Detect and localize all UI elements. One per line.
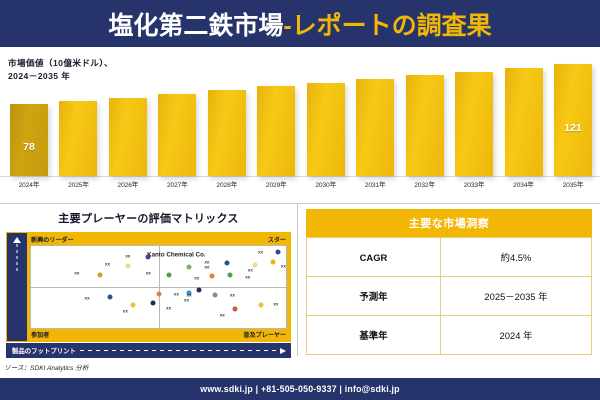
matrix-data-point [225,261,230,266]
matrix-data-point [125,263,130,268]
matrix-data-point-label: xx [194,275,199,280]
bar [505,68,543,176]
insight-key-cell: 予測年 [307,277,441,316]
matrix-data-point [97,272,102,277]
bar [59,101,97,176]
arrow-right-icon [280,348,286,354]
insight-value-cell: 2024 年 [440,316,591,355]
bar-category-label: 2034年 [513,179,534,189]
matrix-data-point [212,293,217,298]
bar-column: 2031年 [356,79,394,176]
bar-category-label: 2026年 [118,179,139,189]
bar-category-label: 2025年 [68,179,89,189]
bar [158,94,196,176]
quadrant-label-participants: 参加者 [31,330,49,339]
matrix-title: 主要プレーヤーの評価マトリックス [0,204,297,226]
bar-value-label: 78 [10,141,48,153]
matrix-data-point-label: xx [125,253,130,258]
matrix-chart: 企業の評価・展望 新興のリーダー スター 参加者 普及プレーヤー Kanto C… [6,232,291,342]
dashed-line-icon [17,244,18,274]
key-insights-header: 主要な市場洞察 [306,209,592,237]
evaluation-matrix-panel: 主要プレーヤーの評価マトリックス 企業の評価・展望 新興のリーダー スター 参加… [0,204,297,376]
bar-column: 2028年 [208,90,246,176]
bar-category-label: 2029年 [266,179,287,189]
bar-column: 1212035年 [554,64,592,176]
table-row: 基準年2024 年 [307,316,592,355]
page-title-primary: 塩化第二鉄市場 [108,12,283,40]
quadrant-label-stars: スター [268,235,286,244]
bar-column: 2032年 [406,75,444,176]
matrix-data-point-label: xx [146,271,151,276]
key-insights-panel: 主要な市場洞察 CAGR約4.5%予測年2025－2035 年基準年2024 年 [306,209,592,354]
matrix-data-point-label: xx [184,298,189,303]
bar [356,79,394,176]
bar-category-label: 2033年 [464,179,485,189]
matrix-data-point-label: xx [220,312,225,317]
matrix-x-axis-label: 製品のフットプリント [12,346,76,355]
bar-category-label: 2035年 [563,179,584,189]
bar-category-label: 2024年 [19,179,40,189]
matrix-data-point [151,301,156,306]
bar-category-label: 2028年 [216,179,237,189]
bar-column: 2027年 [158,94,196,176]
arrow-up-icon [13,237,21,243]
matrix-data-point [276,249,281,254]
bar-category-label: 2030年 [315,179,336,189]
bar-value-label: 121 [554,122,592,134]
matrix-plot-area: Kanto Chemical Co. xxxxxxxxxxxxxxxxxxxxx… [30,245,287,329]
bar [406,75,444,176]
footer-contact-text: www.sdki.jp | +81-505-050-9337 | info@sd… [200,384,399,394]
matrix-y-axis: 企業の評価・展望 [7,233,27,341]
bar-category-label: 2031年 [365,179,386,189]
bar-column: 2025年 [59,101,97,176]
insight-value-cell: 2025－2035 年 [440,277,591,316]
bar-category-label: 2027年 [167,179,188,189]
matrix-data-point [210,273,215,278]
matrix-data-point-label: xx [74,271,79,276]
matrix-data-point [187,265,192,270]
page-header: 塩化第二鉄市場-レポートの調査果 [0,0,600,47]
source-note: ソース：SDKI Analytics 分析 [4,362,88,372]
page-title-dash: - [283,12,291,40]
matrix-horizontal-gridline [31,287,286,288]
matrix-data-point [146,255,151,260]
matrix-data-point-label: xx [123,308,128,313]
matrix-data-point-label: xx [204,260,209,265]
matrix-data-point-label: xx [273,302,278,307]
bar-column: 2029年 [257,86,295,176]
matrix-data-point-label: xx [245,275,250,280]
page-title-secondary: レポートの調査果 [292,12,492,40]
page-footer: www.sdki.jp | +81-505-050-9337 | info@sd… [0,378,600,400]
key-insights-table: CAGR約4.5%予測年2025－2035 年基準年2024 年 [306,237,592,355]
bar-column: 2034年 [505,68,543,176]
bar-category-label: 2032年 [414,179,435,189]
bar [257,86,295,176]
matrix-data-point [233,307,238,312]
insight-key-cell: 基準年 [307,316,441,355]
matrix-x-axis: 製品のフットプリント [6,343,291,358]
bar [208,90,246,176]
section-divider-vertical [297,204,298,356]
matrix-data-point [156,291,161,296]
matrix-data-point [258,303,263,308]
matrix-data-point-label: xx [166,305,171,310]
insight-key-cell: CAGR [307,238,441,277]
matrix-data-point-label: xx [174,291,179,296]
matrix-data-point-label: xx [230,293,235,298]
bar-column: 2030年 [307,83,345,176]
matrix-data-point [131,303,136,308]
insight-value-cell: 約4.5% [440,238,591,277]
table-row: 予測年2025－2035 年 [307,277,592,316]
matrix-data-point [166,272,171,277]
bar [109,98,147,176]
quadrant-label-emerging-leaders: 新興のリーダー [31,235,74,244]
table-row: CAGR約4.5% [307,238,592,277]
dashed-line-icon [80,350,278,351]
infographic-page: 塩化第二鉄市場-レポートの調査果 市場価値（10億米ドル）、 2024－2035… [0,0,600,400]
matrix-data-point [253,262,258,267]
bar: 78 [10,104,48,176]
matrix-data-point-label: xx [281,263,286,268]
matrix-data-point-label: xx [187,293,192,298]
bar [307,83,345,176]
matrix-data-point [108,294,113,299]
matrix-data-point-label: xx [85,296,90,301]
market-value-bar-chart: 市場価値（10億米ドル）、 2024－2035 年 782024年2025年20… [0,47,600,194]
matrix-body: 新興のリーダー スター 参加者 普及プレーヤー Kanto Chemical C… [27,233,290,341]
matrix-data-point [271,259,276,264]
matrix-data-point [227,272,232,277]
bar-column: 2033年 [455,72,493,176]
page-title: 塩化第二鉄市場-レポートの調査果 [108,6,491,42]
bar-column: 2026年 [109,98,147,176]
bar: 121 [554,64,592,176]
matrix-data-point-label: xx [258,249,263,254]
matrix-highlight-company-label: Kanto Chemical Co. [147,252,205,259]
chart-axis-line [0,176,600,177]
matrix-data-point-label: xx [105,262,110,267]
bar [455,72,493,176]
chart-caption: 市場価値（10億米ドル）、 2024－2035 年 [8,57,113,83]
bar-column: 782024年 [10,104,48,176]
matrix-data-point [197,288,202,293]
quadrant-label-pervasive-players: 普及プレーヤー [243,330,286,339]
matrix-data-point-label: xx [248,267,253,272]
